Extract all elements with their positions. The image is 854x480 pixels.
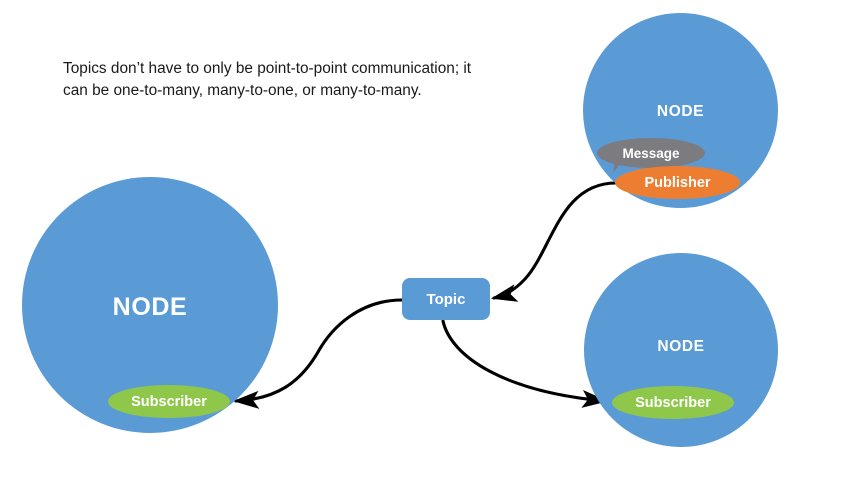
topic-box[interactable]: Topic (402, 278, 490, 320)
subscriber-badge-left[interactable]: Subscriber (108, 385, 230, 418)
publisher-badge[interactable]: Publisher (615, 166, 740, 199)
message-callout-label: Message (597, 138, 705, 168)
message-callout[interactable]: Message (597, 138, 705, 168)
caption-text: Topics don’t have to only be point-to-po… (63, 58, 483, 102)
node-label-top-right: NODE (583, 103, 778, 121)
arrow-publisher-to-topic (494, 183, 617, 298)
diagram-canvas: Topics don’t have to only be point-to-po… (0, 0, 854, 480)
arrow-topic-to-subscriber-bottom-right (443, 321, 605, 401)
subscriber-badge-bottom-right[interactable]: Subscriber (612, 386, 734, 419)
node-label-left: NODE (22, 293, 278, 322)
node-label-bottom-right: NODE (584, 338, 778, 356)
